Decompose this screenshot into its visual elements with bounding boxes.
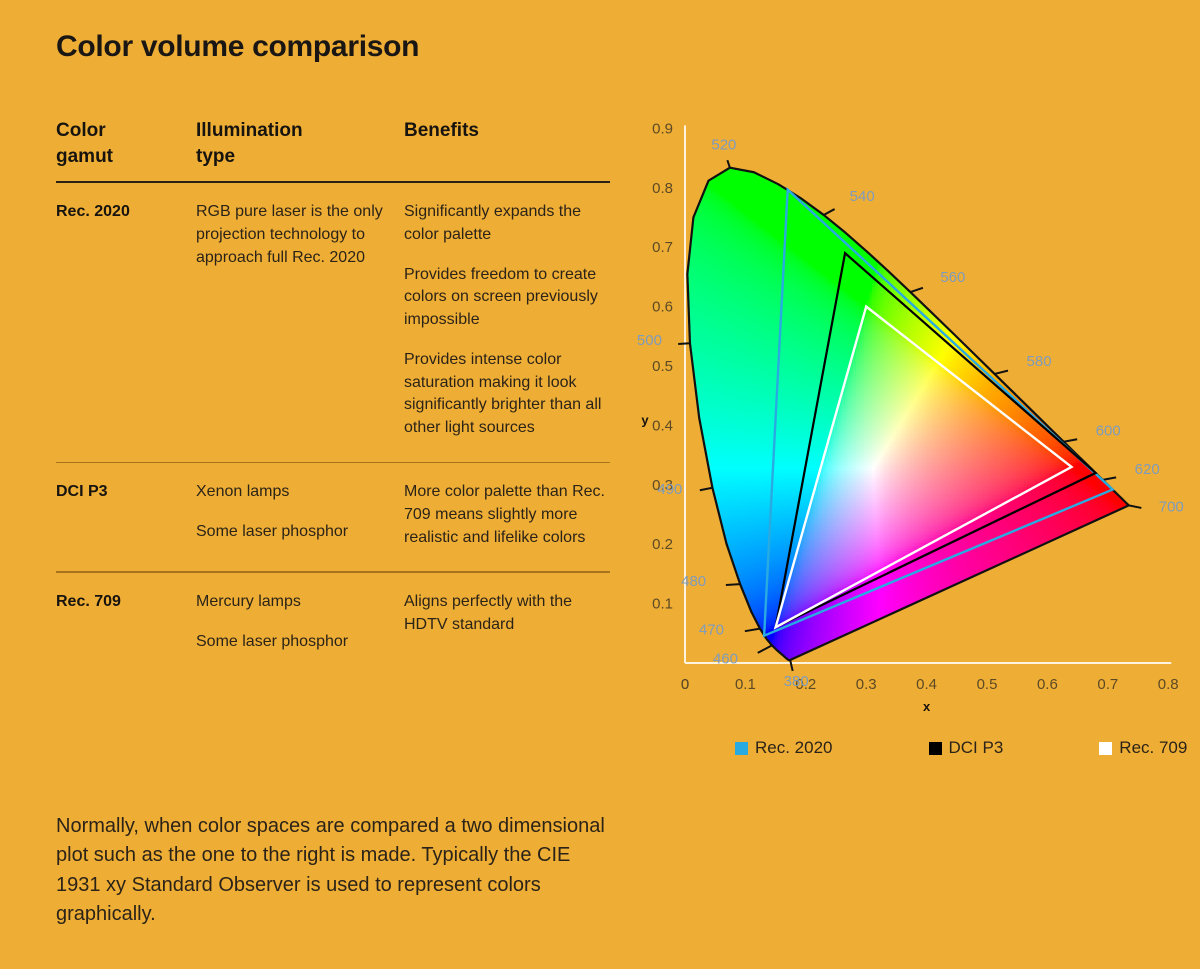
cie-chromaticity-chart: 00.10.20.30.40.50.60.70.80.10.20.30.40.5… (620, 110, 1190, 790)
cell-benefits: Aligns perfectly with the HDTV standard (404, 573, 610, 653)
column-header-color-gamut: Color gamut (56, 118, 196, 181)
page-title: Color volume comparison (56, 30, 419, 64)
table-header-row: Color gamut Illumination type Benefits (56, 118, 610, 181)
wavelength-tick (726, 584, 740, 585)
legend-item-dcip3[interactable]: DCI P3 (929, 738, 1004, 758)
legend-label: Rec. 2020 (755, 738, 833, 758)
wavelength-tick (727, 160, 730, 168)
legend-label: DCI P3 (949, 738, 1004, 758)
cell-illumination: Mercury lamps Some laser phosphor (196, 573, 404, 653)
y-tick-label: 0.7 (652, 239, 673, 256)
wavelength-label-380: 380 (784, 673, 809, 690)
x-tick-label: 0.4 (916, 676, 937, 693)
square-swatch-icon (929, 742, 942, 755)
poster-root: Color volume comparison Color gamut Illu… (0, 0, 1200, 969)
column-header-line1: Color (56, 118, 196, 144)
table-row: Rec. 709 Mercury lamps Some laser phosph… (56, 573, 610, 675)
cell-paragraph: Aligns perfectly with the HDTV standard (404, 591, 610, 636)
x-tick-label: 0.7 (1097, 676, 1118, 693)
description-paragraph: Normally, when color spaces are compared… (56, 812, 616, 930)
cell-illumination: RGB pure laser is the only projection te… (196, 183, 404, 439)
cell-paragraph: Provides freedom to create colors on scr… (404, 264, 610, 332)
cell-gamut: DCI P3 (56, 463, 196, 549)
x-axis-title: x (923, 699, 931, 714)
wavelength-label-460: 460 (713, 650, 738, 667)
table-row: DCI P3 Xenon lamps Some laser phosphor M… (56, 463, 610, 571)
wavelength-label-520: 520 (711, 137, 736, 154)
wavelength-label-620: 620 (1135, 461, 1160, 478)
y-tick-label: 0.1 (652, 596, 673, 613)
wavelength-tick (700, 488, 713, 491)
square-swatch-icon (735, 742, 748, 755)
cie-diagram-svg: 00.10.20.30.40.50.60.70.80.10.20.30.40.5… (620, 110, 1190, 790)
wavelength-label-700: 700 (1159, 498, 1184, 515)
cell-paragraph: Significantly expands the color palette (404, 201, 610, 246)
cell-paragraph: RGB pure laser is the only projection te… (196, 201, 404, 269)
column-header-illumination-type: Illumination type (196, 118, 404, 181)
wavelength-label-540: 540 (850, 188, 875, 205)
legend-item-rec2020[interactable]: Rec. 2020 (735, 738, 833, 758)
wavelength-label-500: 500 (637, 332, 662, 349)
table-row-divider (56, 462, 610, 464)
cell-paragraph: Some laser phosphor (196, 631, 404, 654)
wavelength-label-560: 560 (940, 269, 965, 286)
y-axis-title: y (641, 412, 649, 427)
wavelength-label-600: 600 (1096, 423, 1121, 440)
column-header-line2: gamut (56, 144, 196, 170)
x-tick-label: 0.5 (977, 676, 998, 693)
wavelength-tick (995, 371, 1008, 374)
cell-paragraph: Xenon lamps (196, 481, 404, 504)
x-tick-label: 0.6 (1037, 676, 1058, 693)
wavelength-tick (1129, 505, 1142, 508)
cell-gamut: Rec. 2020 (56, 183, 196, 439)
wavelength-tick (790, 660, 793, 671)
wavelength-label-480: 480 (681, 573, 706, 590)
y-tick-label: 0.8 (652, 180, 673, 197)
wavelength-tick (745, 629, 760, 632)
y-tick-label: 0.5 (652, 358, 673, 375)
cell-benefits: More color palette than Rec. 709 means s… (404, 463, 610, 549)
column-header-line2: type (196, 144, 404, 170)
x-tick-label: 0.3 (856, 676, 877, 693)
square-swatch-icon (1099, 742, 1112, 755)
chart-legend: Rec. 2020 DCI P3 Rec. 709 (735, 738, 1187, 758)
comparison-table: Color gamut Illumination type Benefits R… (56, 118, 610, 675)
wavelength-tick (1064, 439, 1077, 442)
y-tick-label: 0.9 (652, 120, 673, 137)
wavelength-tick (678, 343, 690, 344)
wavelength-tick (824, 209, 835, 215)
wavelength-tick (1103, 477, 1116, 480)
legend-item-rec709[interactable]: Rec. 709 (1099, 738, 1187, 758)
wavelength-label-470: 470 (699, 622, 724, 639)
wavelength-label-490: 490 (657, 481, 682, 498)
cell-paragraph: Some laser phosphor (196, 521, 404, 544)
column-header-benefits: Benefits (404, 118, 610, 181)
legend-label: Rec. 709 (1119, 738, 1187, 758)
origin-label: 0 (681, 676, 689, 693)
wavelength-tick (910, 288, 923, 292)
wavelength-label-580: 580 (1027, 353, 1052, 370)
cell-paragraph: Provides intense color saturation making… (404, 349, 610, 440)
x-tick-label: 0.1 (735, 676, 756, 693)
y-tick-label: 0.6 (652, 299, 673, 316)
cell-illumination: Xenon lamps Some laser phosphor (196, 463, 404, 549)
table-row-divider (56, 571, 610, 573)
cell-paragraph: Mercury lamps (196, 591, 404, 614)
cell-benefits: Significantly expands the color palette … (404, 183, 610, 439)
cell-gamut: Rec. 709 (56, 573, 196, 653)
y-tick-label: 0.2 (652, 536, 673, 553)
column-header-line1: Illumination (196, 118, 404, 144)
y-tick-label: 0.4 (652, 417, 673, 434)
table-row: Rec. 2020 RGB pure laser is the only pro… (56, 183, 610, 461)
x-tick-label: 0.8 (1158, 676, 1179, 693)
wavelength-tick (758, 645, 772, 653)
cell-paragraph: More color palette than Rec. 709 means s… (404, 481, 610, 549)
